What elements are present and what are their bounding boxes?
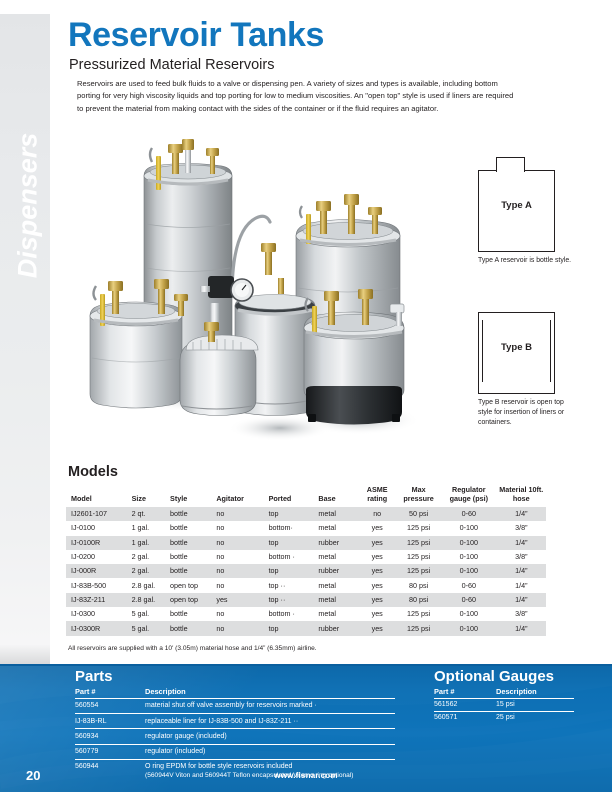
website-url[interactable]: www.fisnar.com xyxy=(0,771,612,780)
cell-model: IJ-0200 xyxy=(66,550,130,564)
models-heading: Models xyxy=(68,464,118,480)
cell-base: metal xyxy=(316,593,358,607)
cell-agitator: no xyxy=(214,607,266,621)
col-model: Model xyxy=(66,484,130,507)
models-table-body: IJ2601-1072 qt.bottlenotopmetalno50 psi0… xyxy=(66,507,546,636)
parts-col-part-number: Part # xyxy=(75,687,145,699)
cell-style: bottle xyxy=(168,607,214,621)
cell-ported: top xyxy=(267,507,317,521)
gauges-table-body: 56156215 psi56057125 psi xyxy=(434,699,574,724)
cell-hose: 3/8” xyxy=(497,607,546,621)
cell-style: bottle xyxy=(168,564,214,578)
table-row: IJ-000R2 gal.bottlenotoprubberyes125 psi… xyxy=(66,564,546,578)
cell-ported: top ·· xyxy=(267,593,317,607)
cell-asme: yes xyxy=(358,578,396,592)
intro-paragraph: Reservoirs are used to feed bulk fluids … xyxy=(77,78,514,115)
cell-base: rubber xyxy=(316,621,358,635)
cell-asme: yes xyxy=(358,593,396,607)
col-asme-rating: ASME rating xyxy=(358,484,396,507)
table-row: IJ-01001 gal.bottlenobottom·metalyes125 … xyxy=(66,521,546,535)
col-max-pressure: Max pressure xyxy=(396,484,441,507)
part-description: replaceable liner for IJ-83B-500 and IJ-… xyxy=(145,714,395,729)
page-subtitle: Pressurized Material Reservoirs xyxy=(69,57,274,73)
part-description-line1: material shut off valve assembly for res… xyxy=(145,702,317,709)
table-row: IJ-03005 gal.bottlenobottom ·metalyes125… xyxy=(66,607,546,621)
cell-regulator: 0-60 xyxy=(441,593,497,607)
cell-model: IJ2601-107 xyxy=(66,507,130,521)
col-agitator: Agitator xyxy=(214,484,266,507)
cell-max-pressure: 80 psi xyxy=(396,593,441,607)
cell-agitator: no xyxy=(214,507,266,521)
cell-max-pressure: 125 psi xyxy=(396,536,441,550)
cell-asme: yes xyxy=(358,564,396,578)
part-description: regulator gauge (included) xyxy=(145,729,395,744)
cell-model: IJ-83Z-211 xyxy=(66,593,130,607)
cell-hose: 3/8” xyxy=(497,550,546,564)
list-item: 560554material shut off valve assembly f… xyxy=(75,699,395,714)
cell-regulator: 0-100 xyxy=(441,621,497,635)
cell-size: 5 gal. xyxy=(130,607,168,621)
cell-ported: top xyxy=(267,564,317,578)
list-item: IJ-83B-RLreplaceable liner for IJ-83B-50… xyxy=(75,714,395,729)
cell-max-pressure: 125 psi xyxy=(396,550,441,564)
cell-ported: bottom· xyxy=(267,521,317,535)
cell-size: 1 gal. xyxy=(130,536,168,550)
cell-hose: 1/4” xyxy=(497,564,546,578)
table-row: IJ2601-1072 qt.bottlenotopmetalno50 psi0… xyxy=(66,507,546,521)
cell-regulator: 0-100 xyxy=(441,564,497,578)
col-hose-line2: hose xyxy=(513,494,530,503)
col-style-line1: Style xyxy=(170,494,187,503)
cell-asme: yes xyxy=(358,550,396,564)
cell-ported: top xyxy=(267,621,317,635)
cell-agitator: no xyxy=(214,550,266,564)
cell-base: rubber xyxy=(316,536,358,550)
cell-max-pressure: 125 psi xyxy=(396,521,441,535)
gauges-table-head: Part # Description xyxy=(434,687,574,699)
col-hose-line1: Material 10ft. xyxy=(499,485,543,494)
list-item: 560779regulator (included) xyxy=(75,744,395,759)
col-reg-line1: Regulator xyxy=(452,485,486,494)
cell-ported: top xyxy=(267,536,317,550)
cell-size: 2.8 gal. xyxy=(130,578,168,592)
part-description-line1: regulator gauge (included) xyxy=(145,733,227,740)
parts-table: Part # Description 560554material shut o… xyxy=(75,687,395,783)
cell-max-pressure: 80 psi xyxy=(396,578,441,592)
col-size-line1: Size xyxy=(132,494,146,503)
col-max-line1: Max xyxy=(412,485,426,494)
cell-agitator: no xyxy=(214,536,266,550)
cell-hose: 1/4” xyxy=(497,621,546,635)
cell-style: bottle xyxy=(168,536,214,550)
cell-agitator: no xyxy=(214,621,266,635)
cell-max-pressure: 125 psi xyxy=(396,564,441,578)
cell-base: metal xyxy=(316,507,358,521)
type-b-body: Type B xyxy=(478,312,555,394)
cell-hose: 1/4” xyxy=(497,536,546,550)
part-number: 560779 xyxy=(75,744,145,759)
col-asme-line2: rating xyxy=(367,494,387,503)
col-model-line1: Model xyxy=(71,494,92,503)
cell-size: 1 gal. xyxy=(130,521,168,535)
parts-col-description: Description xyxy=(145,687,395,699)
cell-model: IJ-0300 xyxy=(66,607,130,621)
col-material-hose: Material 10ft. hose xyxy=(497,484,546,507)
cell-base: metal xyxy=(316,607,358,621)
cell-regulator: 0-100 xyxy=(441,550,497,564)
col-regulator-gauge: Regulator gauge (psi) xyxy=(441,484,497,507)
col-base-line1: Base xyxy=(318,494,335,503)
cell-base: metal xyxy=(316,521,358,535)
cell-asme: no xyxy=(358,507,396,521)
parts-table-head: Part # Description xyxy=(75,687,395,699)
diagram-type-b: Type B Type B reservoir is open top styl… xyxy=(478,312,576,428)
part-description: material shut off valve assembly for res… xyxy=(145,699,395,714)
parts-heading: Parts xyxy=(75,668,113,685)
type-a-caption: Type A reservoir is bottle style. xyxy=(478,256,576,266)
gauge-part-number: 560571 xyxy=(434,711,496,723)
models-table-head: Model Size Style Agitator Ported Base xyxy=(66,484,546,507)
table-row: IJ-0300R5 gal.bottlenotoprubberyes125 ps… xyxy=(66,621,546,635)
models-header-row: Model Size Style Agitator Ported Base xyxy=(66,484,546,507)
cell-agitator: no xyxy=(214,521,266,535)
list-item: 560934regulator gauge (included) xyxy=(75,729,395,744)
gauge-part-number: 561562 xyxy=(434,699,496,712)
col-max-line2: pressure xyxy=(403,494,433,503)
optional-gauges-table: Part # Description 56156215 psi56057125 … xyxy=(434,687,574,724)
col-base: Base xyxy=(316,484,358,507)
cell-style: open top xyxy=(168,578,214,592)
cell-style: open top xyxy=(168,593,214,607)
cell-agitator: no xyxy=(214,564,266,578)
cell-base: metal xyxy=(316,550,358,564)
cell-style: bottle xyxy=(168,621,214,635)
cell-model: IJ-0100R xyxy=(66,536,130,550)
cell-ported: top ·· xyxy=(267,578,317,592)
section-tab-label: Dispensers xyxy=(13,86,44,326)
section-tab-dispensers: Dispensers xyxy=(0,14,50,664)
cell-ported: bottom · xyxy=(267,550,317,564)
cell-max-pressure: 125 psi xyxy=(396,621,441,635)
cell-asme: yes xyxy=(358,536,396,550)
col-style: Style xyxy=(168,484,214,507)
cell-base: rubber xyxy=(316,564,358,578)
product-photo-illustration xyxy=(60,128,460,450)
cell-style: bottle xyxy=(168,550,214,564)
col-reg-line2: gauge (psi) xyxy=(450,494,488,503)
table-row: IJ-02002 gal.bottlenobottom ·metalyes125… xyxy=(66,550,546,564)
cell-size: 2 gal. xyxy=(130,550,168,564)
type-b-caption: Type B reservoir is open top style for i… xyxy=(478,398,576,428)
page-title: Reservoir Tanks xyxy=(68,18,324,52)
part-description-line1: replaceable liner for IJ-83B-500 and IJ-… xyxy=(145,718,298,725)
cell-model: IJ-000R xyxy=(66,564,130,578)
cell-regulator: 0-100 xyxy=(441,607,497,621)
cell-regulator: 0-60 xyxy=(441,507,497,521)
col-asme-line1: ASME xyxy=(367,485,388,494)
cell-agitator: no xyxy=(214,578,266,592)
models-table: Model Size Style Agitator Ported Base xyxy=(66,484,546,636)
cell-size: 2.8 gal. xyxy=(130,593,168,607)
blue-panel-top-edge xyxy=(0,664,612,666)
gauges-header-row: Part # Description xyxy=(434,687,574,699)
cell-max-pressure: 125 psi xyxy=(396,607,441,621)
table-row: IJ-83Z-2112.8 gal.open topyestop ··metal… xyxy=(66,593,546,607)
gauges-col-description: Description xyxy=(496,687,574,699)
cell-hose: 3/8” xyxy=(497,521,546,535)
cell-max-pressure: 50 psi xyxy=(396,507,441,521)
cell-style: bottle xyxy=(168,521,214,535)
cell-size: 2 gal. xyxy=(130,564,168,578)
part-description-line1: regulator (included) xyxy=(145,748,205,755)
cell-hose: 1/4” xyxy=(497,578,546,592)
cell-model: IJ-0100 xyxy=(66,521,130,535)
col-agitator-line1: Agitator xyxy=(216,494,244,503)
list-item: 56156215 psi xyxy=(434,699,574,712)
table-row: IJ-83B-5002.8 gal.open topnotop ··metaly… xyxy=(66,578,546,592)
cell-hose: 1/4” xyxy=(497,507,546,521)
cell-asme: yes xyxy=(358,521,396,535)
col-ported: Ported xyxy=(267,484,317,507)
part-number: 560934 xyxy=(75,729,145,744)
cell-ported: bottom · xyxy=(267,607,317,621)
table-row: IJ-0100R1 gal.bottlenotoprubberyes125 ps… xyxy=(66,536,546,550)
gauge-description: 25 psi xyxy=(496,711,574,723)
type-a-label: Type A xyxy=(479,200,554,211)
gauge-description: 15 psi xyxy=(496,699,574,712)
part-number: IJ-83B-RL xyxy=(75,714,145,729)
list-item: 56057125 psi xyxy=(434,711,574,723)
cell-asme: yes xyxy=(358,621,396,635)
cell-regulator: 0-100 xyxy=(441,521,497,535)
gauges-col-part-number: Part # xyxy=(434,687,496,699)
type-b-label: Type B xyxy=(479,342,554,353)
page-root: Dispensers Reservoir Tanks Pressurized M… xyxy=(0,0,612,792)
type-a-neck xyxy=(496,157,525,172)
cell-asme: yes xyxy=(358,607,396,621)
product-photo-reservoir-tanks xyxy=(60,128,460,450)
part-description-line1: O ring EPDM for bottle style reservoirs … xyxy=(145,763,292,770)
optional-gauges-heading: Optional Gauges xyxy=(434,668,554,685)
cell-regulator: 0-60 xyxy=(441,578,497,592)
diagram-type-a: Type A Type A reservoir is bottle style. xyxy=(478,170,576,266)
cell-style: bottle xyxy=(168,507,214,521)
type-a-body: Type A xyxy=(478,170,555,252)
parts-header-row: Part # Description xyxy=(75,687,395,699)
models-footnote: All reservoirs are supplied with a 10' (… xyxy=(68,645,317,652)
cell-size: 5 gal. xyxy=(130,621,168,635)
col-ported-line1: Ported xyxy=(269,494,292,503)
cell-model: IJ-0300R xyxy=(66,621,130,635)
part-number: 560554 xyxy=(75,699,145,714)
cell-regulator: 0-100 xyxy=(441,536,497,550)
part-description: regulator (included) xyxy=(145,744,395,759)
cell-base: metal xyxy=(316,578,358,592)
col-size: Size xyxy=(130,484,168,507)
cell-agitator: yes xyxy=(214,593,266,607)
cell-model: IJ-83B-500 xyxy=(66,578,130,592)
cell-size: 2 qt. xyxy=(130,507,168,521)
cell-hose: 1/4” xyxy=(497,593,546,607)
